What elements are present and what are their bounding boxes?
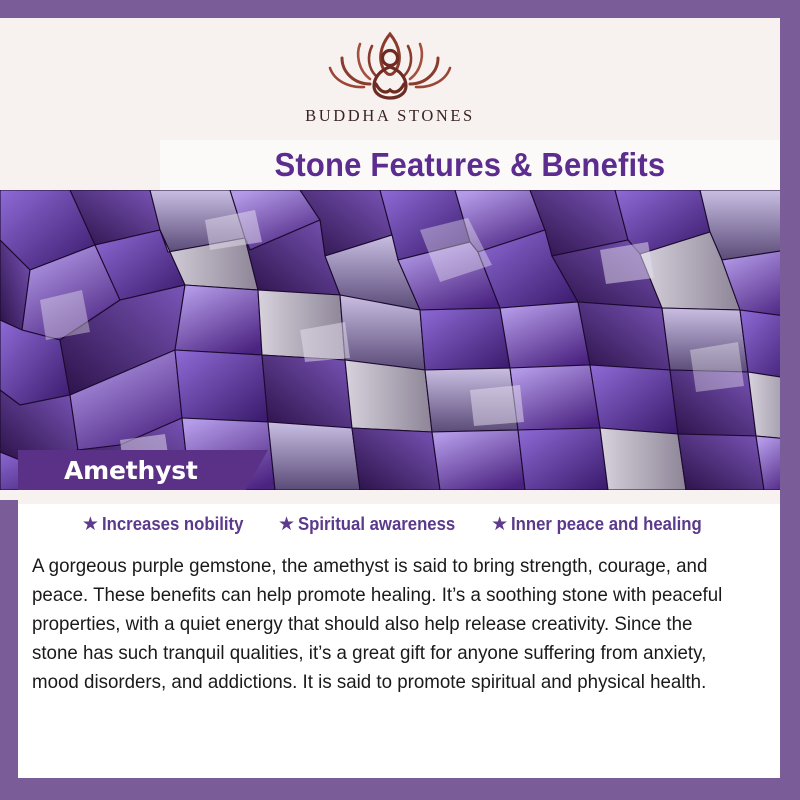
list-item: ★ Spiritual awareness	[278, 514, 467, 535]
frame-border-top	[0, 0, 800, 18]
star-icon: ★	[491, 515, 508, 534]
star-icon: ★	[278, 515, 295, 534]
star-icon: ★	[82, 515, 99, 534]
frame-border-bottom	[0, 778, 800, 800]
benefit-label: Spiritual awareness	[298, 514, 455, 535]
brand-header: BUDDHA STONES	[0, 18, 780, 140]
page-title: Stone Features & Benefits	[275, 146, 666, 184]
stone-name-ribbon: Amethyst	[18, 450, 268, 490]
content-top-fade	[18, 490, 780, 504]
stone-description: A gorgeous purple gemstone, the amethyst…	[32, 552, 742, 697]
lotus-meditation-figure-icon	[320, 24, 460, 104]
amethyst-crystal-cluster-photo	[0, 190, 800, 490]
crystal-illustration	[0, 190, 800, 490]
frame-border-left	[0, 500, 18, 800]
list-item: ★ Increases nobility	[82, 514, 254, 535]
brand-name: BUDDHA STONES	[305, 106, 475, 126]
benefit-label: Inner peace and healing	[511, 514, 702, 535]
stone-name: Amethyst	[64, 456, 198, 485]
title-band: Stone Features & Benefits	[160, 140, 780, 190]
stone-details-panel: ★ Increases nobility ★ Spiritual awarene…	[18, 490, 780, 778]
list-item: ★ Inner peace and healing	[491, 514, 716, 535]
benefit-label: Increases nobility	[102, 514, 243, 535]
stone-info-card: BUDDHA STONES Stone Features & Benefits	[0, 0, 800, 800]
frame-border-right	[780, 0, 800, 800]
benefits-list: ★ Increases nobility ★ Spiritual awarene…	[18, 514, 780, 535]
